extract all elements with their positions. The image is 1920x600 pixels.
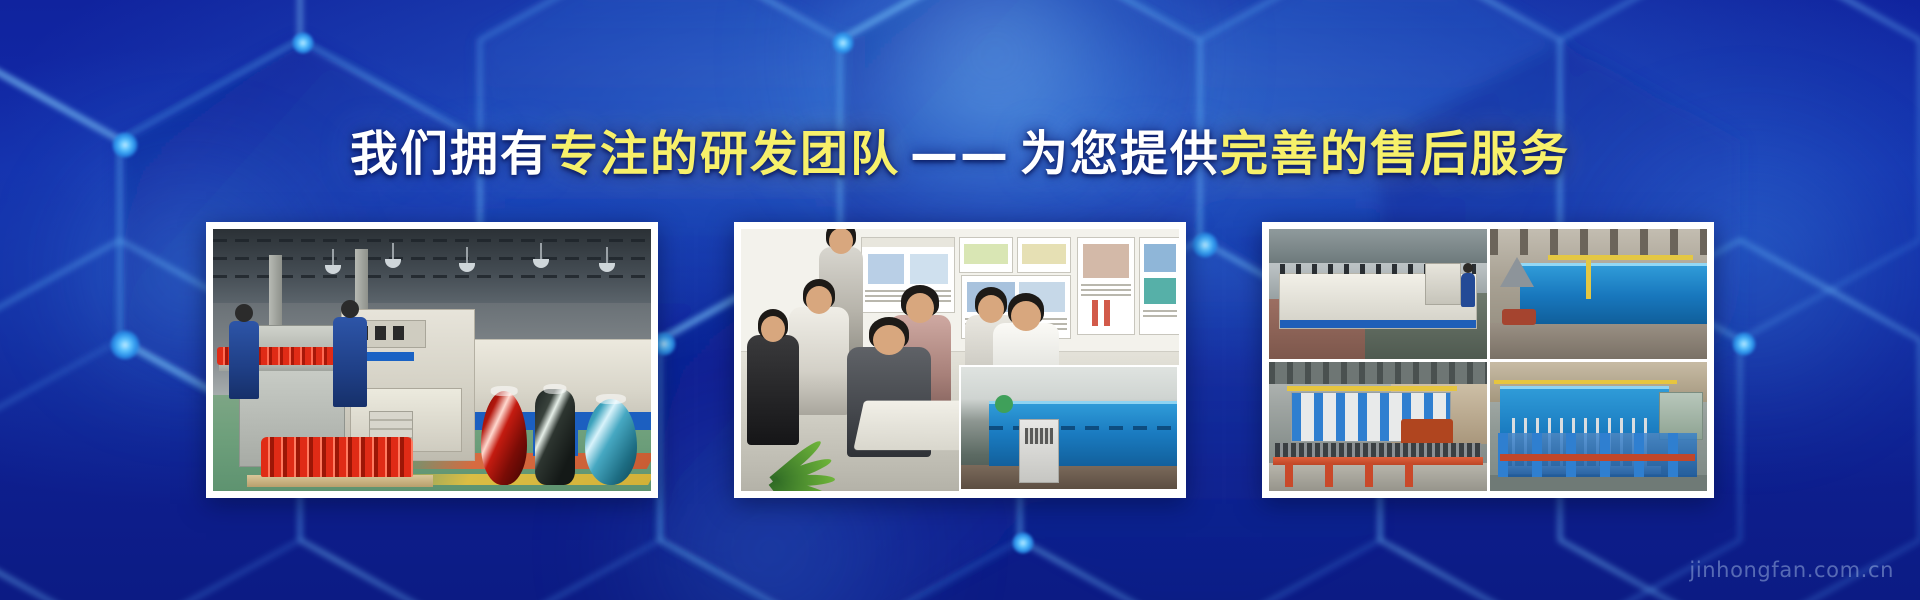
photo-equipment-collage — [1269, 229, 1707, 491]
photo-gallery — [0, 222, 1920, 498]
headline-part-2-highlight: 专注的研发团队 — [550, 126, 900, 182]
collage-cell-conveyor-line — [1269, 362, 1487, 492]
potted-plant — [741, 399, 871, 491]
headline-part-4-highlight: 完善的售后服务 — [1220, 126, 1570, 182]
glass-vase-teal — [585, 399, 637, 485]
photo-frame-production-line[interactable] — [206, 222, 658, 498]
glass-vase-dark — [535, 389, 575, 485]
headline-dash: —— — [900, 126, 1020, 182]
banner-headline: 我们拥有专注的研发团队——为您提供完善的售后服务 — [0, 128, 1920, 181]
inset-equipment-photo — [959, 365, 1179, 491]
headline-part-1: 我们拥有 — [350, 126, 550, 182]
collage-cell-blue-kiln — [1490, 229, 1708, 359]
collage-cell-tunnel-furnace — [1269, 229, 1487, 359]
collage-cell-hanger-line — [1490, 362, 1708, 492]
photo-frame-equipment-collage[interactable] — [1262, 222, 1714, 498]
promotional-banner: 我们拥有专注的研发团队——为您提供完善的售后服务 — [0, 0, 1920, 600]
photo-team-meeting — [741, 229, 1179, 491]
photo-frame-team-meeting[interactable] — [734, 222, 1186, 498]
site-watermark: jinhongfan.com.cn — [1689, 558, 1894, 582]
photo-production-line — [213, 229, 651, 491]
headline-part-3: 为您提供 — [1020, 126, 1220, 182]
